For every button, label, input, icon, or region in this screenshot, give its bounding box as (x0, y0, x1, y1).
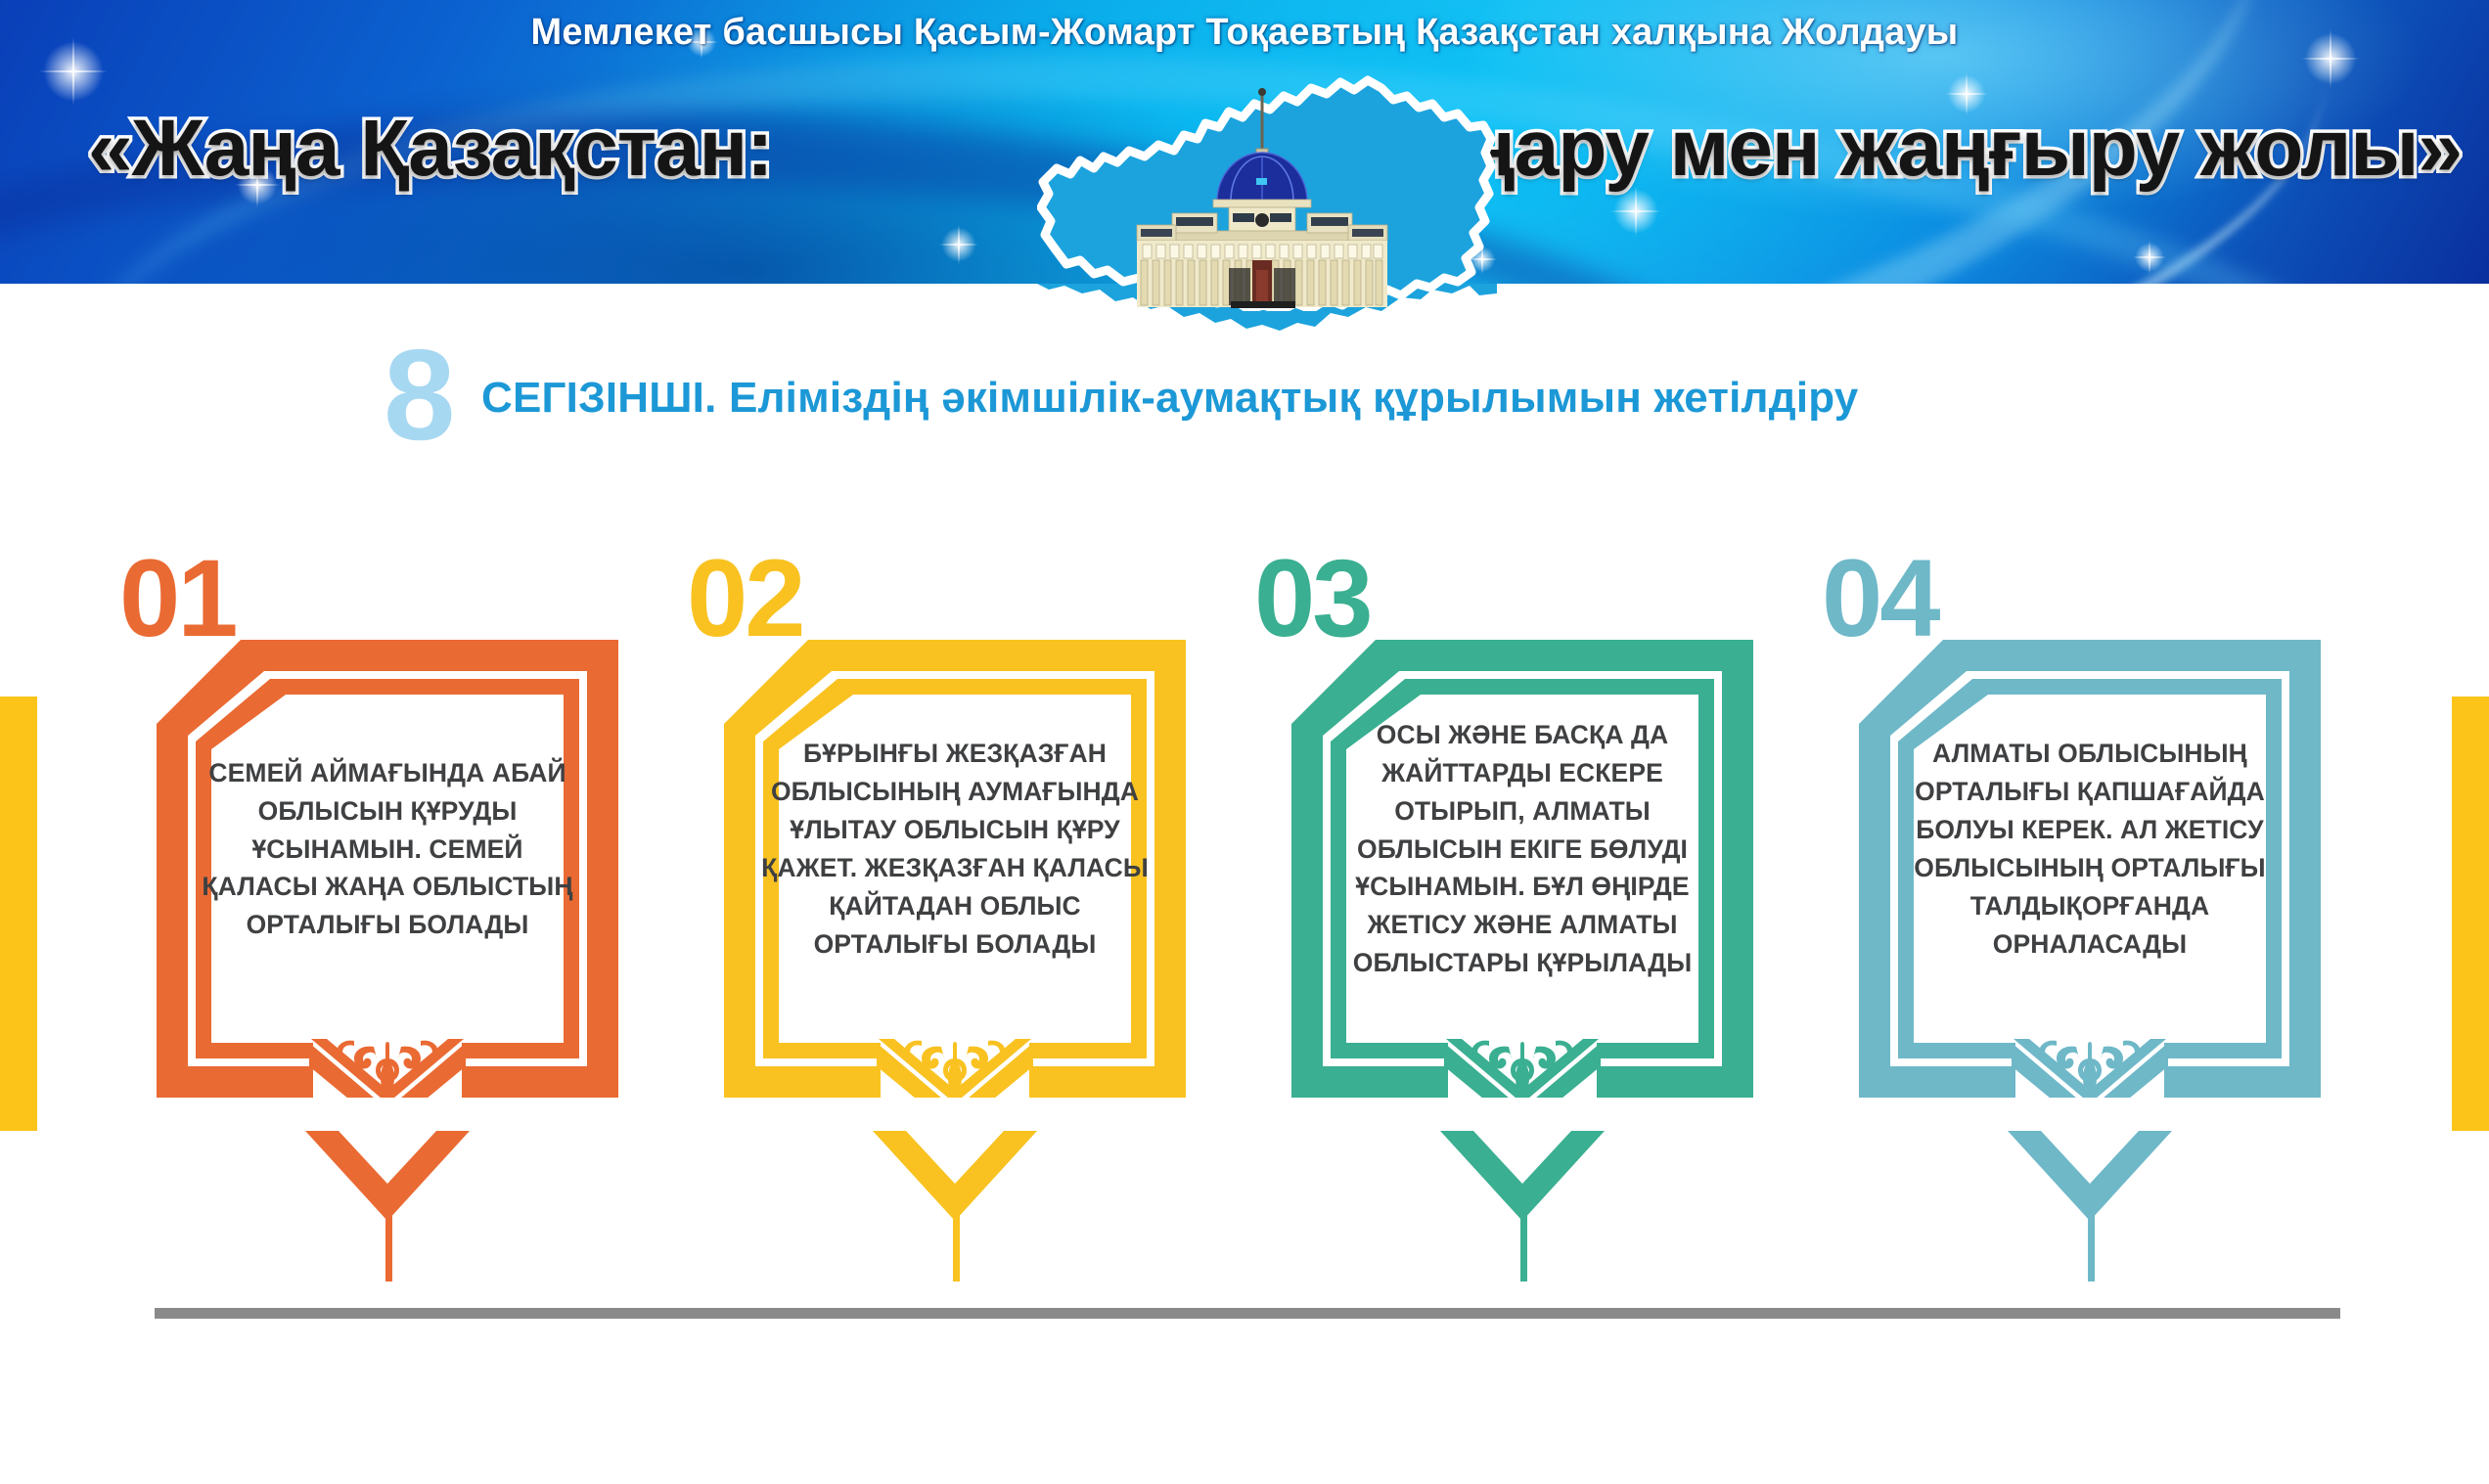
address-subtitle: Мемлекет басшысы Қасым-Жомарт Тоқаевтың … (0, 12, 2489, 54)
akorda-palace-icon (1115, 88, 1409, 313)
timeline-card[interactable]: 01 (157, 565, 665, 1338)
main-title-right: Жаңару мен жаңғыру жолы» (1350, 103, 2462, 195)
card-connector-stem (2088, 1203, 2095, 1282)
section-number: 8 (384, 331, 455, 460)
infographic-page: Мемлекет басшысы Қасым-Жомарт Тоқаевтың … (0, 0, 2489, 1484)
card-text: ОСЫ ЖӘНЕ БАСҚА ДА ЖАЙТТАРДЫ ЕСКЕРЕ ОТЫРЫ… (1329, 634, 1716, 1064)
card-number: 02 (687, 544, 803, 653)
timeline-card[interactable]: 04 АЛМ (1859, 565, 2368, 1338)
timeline-card[interactable]: 03 ОСЫ (1291, 565, 1800, 1338)
sparkle-icon (2133, 241, 2166, 274)
timeline-card[interactable]: 02 БҰР (724, 565, 1233, 1338)
sparkle-icon (939, 225, 978, 264)
left-accent-bar (0, 697, 37, 1131)
card-text: БҰРЫНҒЫ ЖЕЗҚАЗҒАН ОБЛЫСЫНЫҢ АУМАҒЫНДА ҰЛ… (761, 634, 1149, 1064)
section-title: СЕГІЗІНШІ. Еліміздің әкімшілік-аумақтық … (481, 374, 1858, 423)
main-title-left: «Жаңа Қазақстан: (88, 103, 772, 195)
card-connector-stem (1520, 1203, 1527, 1282)
card-text: АЛМАТЫ ОБЛЫСЫНЫҢ ОРТАЛЫҒЫ ҚАПШАҒАЙДА БОЛ… (1896, 634, 2284, 1064)
card-number: 03 (1254, 544, 1371, 653)
card-number: 04 (1822, 544, 1938, 653)
card-text: СЕМЕЙ АЙМАҒЫНДА АБАЙ ОБЛЫСЫН ҚҰРУДЫ ҰСЫН… (194, 634, 581, 1064)
card-number: 01 (119, 544, 236, 653)
right-accent-bar (2452, 697, 2489, 1131)
card-connector-stem (385, 1203, 392, 1282)
card-connector-stem (953, 1203, 960, 1282)
